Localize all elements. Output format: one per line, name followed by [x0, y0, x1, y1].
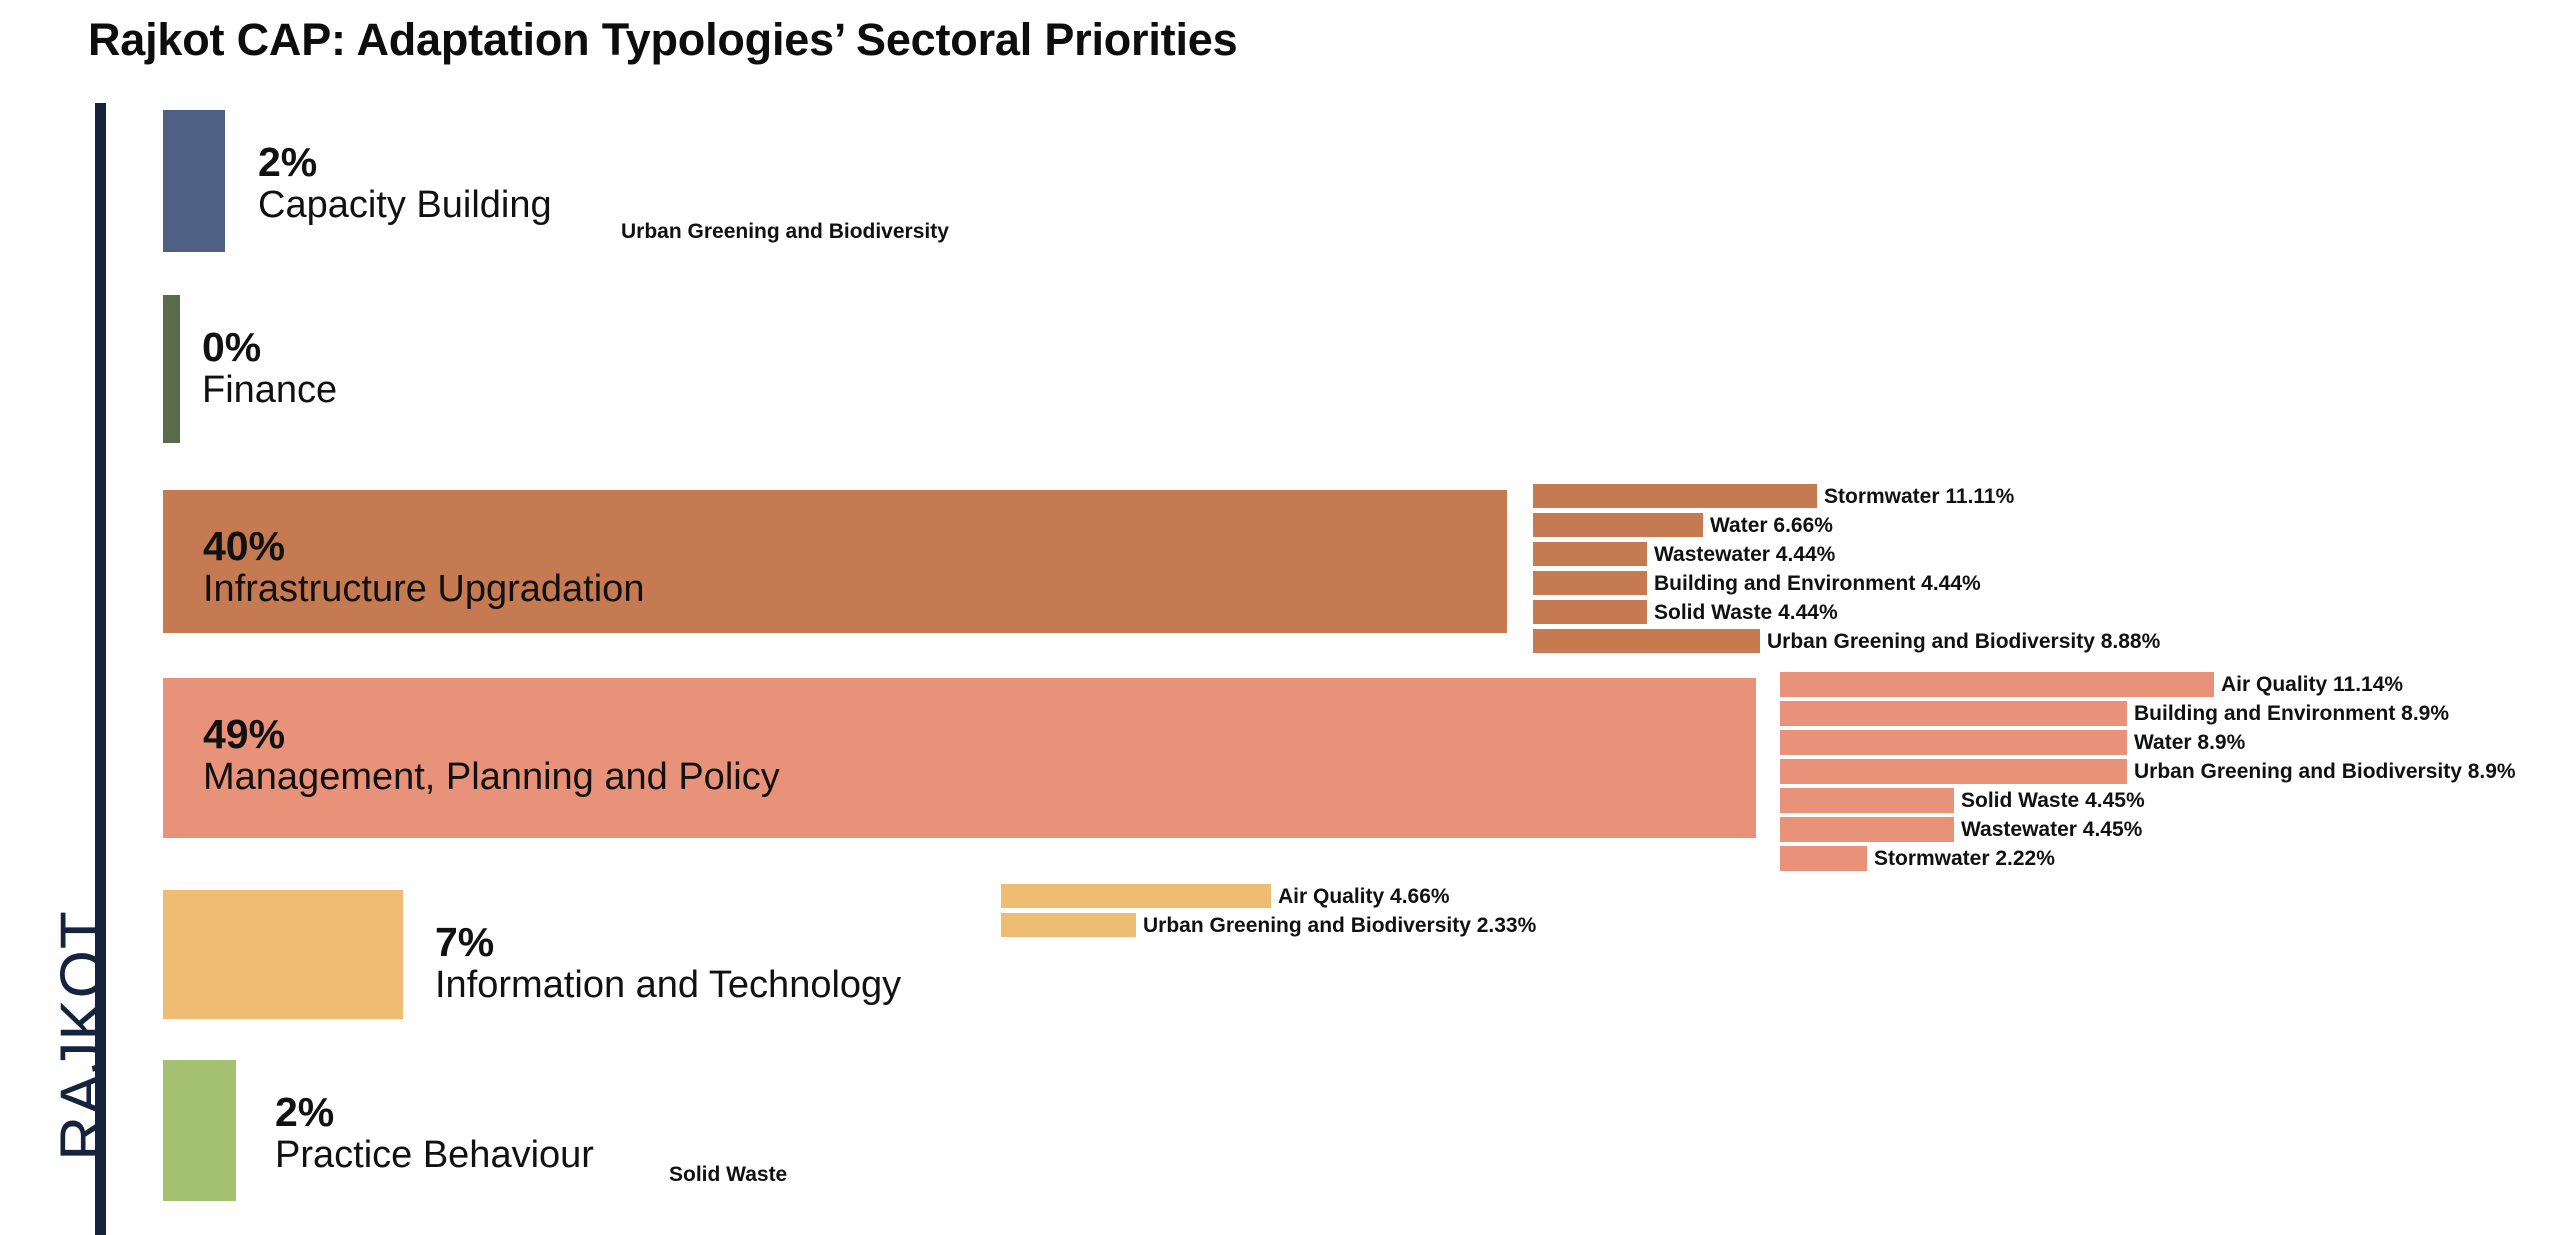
main-bar-information-and-technology[interactable] — [163, 890, 403, 1019]
sector-row: Wastewater 4.44% — [1533, 542, 1835, 566]
city-label: RAJKOT — [48, 871, 119, 1201]
main-percent-finance: 0% — [202, 327, 337, 369]
main-label-information-and-technology: 7%Information and Technology — [435, 922, 901, 1005]
sector-label: Building and Environment 4.44% — [1654, 573, 1981, 594]
sector-bar[interactable] — [1780, 701, 2127, 726]
sector-row: Building and Environment 4.44% — [1533, 571, 1981, 595]
sector-bar[interactable] — [1001, 884, 1271, 908]
typology-group-finance: 0%Finance — [163, 295, 180, 443]
main-name-information-and-technology: Information and Technology — [435, 966, 901, 1005]
sector-bar[interactable] — [1533, 629, 1760, 653]
sector-bar[interactable] — [1780, 730, 2127, 755]
sector-label: Urban Greening and Biodiversity 8.88% — [1767, 631, 2160, 652]
sector-label: Stormwater 2.22% — [1874, 848, 2055, 869]
chart-canvas: Rajkot CAP: Adaptation Typologies’ Secto… — [0, 0, 2551, 1235]
sector-row: Water 6.66% — [1533, 513, 1833, 537]
sector-label: Solid Waste 4.45% — [1961, 790, 2145, 811]
typology-group-capacity-building: 2%Capacity Building — [163, 110, 225, 252]
typology-group-management-planning-and-policy: 49%Management, Planning and Policy — [163, 678, 1756, 838]
sector-label: Wastewater 4.45% — [1961, 819, 2142, 840]
main-bar-capacity-building[interactable] — [163, 110, 225, 252]
sector-bar[interactable] — [1780, 759, 2127, 784]
sector-row: Urban Greening and Biodiversity 2.33% — [1001, 913, 1536, 937]
typology-group-infrastructure-upgradation: 40%Infrastructure Upgradation — [163, 490, 1507, 633]
sector-label: Water 8.9% — [2134, 732, 2245, 753]
sector-label: Urban Greening and Biodiversity 2.33% — [1143, 915, 1536, 936]
sector-row: Water 8.9% — [1780, 730, 2245, 755]
main-label-management-planning-and-policy: 49%Management, Planning and Policy — [203, 714, 780, 797]
main-label-finance: 0%Finance — [202, 327, 337, 410]
sector-bar[interactable] — [1780, 788, 1954, 813]
main-percent-capacity-building: 2% — [258, 142, 552, 184]
sector-bar[interactable] — [1780, 817, 1954, 842]
sector-row: Stormwater 11.11% — [1533, 484, 2014, 508]
sector-bar[interactable] — [1533, 513, 1703, 537]
main-name-management-planning-and-policy: Management, Planning and Policy — [203, 758, 780, 797]
sector-row: Air Quality 4.66% — [1001, 884, 1450, 908]
sector-label: Solid Waste 4.44% — [1654, 602, 1838, 623]
sector-annotation-practice-behaviour: Solid Waste — [669, 1163, 787, 1187]
main-percent-practice-behaviour: 2% — [275, 1092, 594, 1134]
page-title: Rajkot CAP: Adaptation Typologies’ Secto… — [88, 14, 1237, 66]
typology-group-information-and-technology: 7%Information and Technology — [163, 890, 403, 1019]
main-label-infrastructure-upgradation: 40%Infrastructure Upgradation — [203, 526, 644, 609]
main-name-practice-behaviour: Practice Behaviour — [275, 1136, 594, 1175]
sector-bar[interactable] — [1533, 484, 1817, 508]
sector-annotation-capacity-building: Urban Greening and Biodiversity — [621, 220, 949, 244]
sector-row: Air Quality 11.14% — [1780, 672, 2403, 697]
typology-group-practice-behaviour: 2%Practice Behaviour — [163, 1060, 236, 1201]
sector-bar[interactable] — [1780, 846, 1867, 871]
sector-row: Urban Greening and Biodiversity 8.9% — [1780, 759, 2516, 784]
sector-bar[interactable] — [1533, 542, 1647, 566]
sector-row: Solid Waste 4.44% — [1533, 600, 1838, 624]
sector-bar[interactable] — [1533, 571, 1647, 595]
sector-label: Wastewater 4.44% — [1654, 544, 1835, 565]
sector-label: Stormwater 11.11% — [1824, 486, 2014, 507]
sector-bar[interactable] — [1780, 672, 2214, 697]
sector-row: Stormwater 2.22% — [1780, 846, 2055, 871]
sector-row: Urban Greening and Biodiversity 8.88% — [1533, 629, 2160, 653]
main-percent-information-and-technology: 7% — [435, 922, 901, 964]
main-bar-finance[interactable] — [163, 295, 180, 443]
main-bar-practice-behaviour[interactable] — [163, 1060, 236, 1201]
main-label-capacity-building: 2%Capacity Building — [258, 142, 552, 225]
main-percent-management-planning-and-policy: 49% — [203, 714, 780, 756]
sector-label: Building and Environment 8.9% — [2134, 703, 2449, 724]
sector-label: Urban Greening and Biodiversity 8.9% — [2134, 761, 2516, 782]
main-name-infrastructure-upgradation: Infrastructure Upgradation — [203, 570, 644, 609]
sector-row: Solid Waste 4.45% — [1780, 788, 2145, 813]
main-percent-infrastructure-upgradation: 40% — [203, 526, 644, 568]
sector-label: Air Quality 4.66% — [1278, 886, 1450, 907]
sector-bar[interactable] — [1001, 913, 1136, 937]
main-label-practice-behaviour: 2%Practice Behaviour — [275, 1092, 594, 1175]
main-name-finance: Finance — [202, 371, 337, 410]
sector-row: Wastewater 4.45% — [1780, 817, 2142, 842]
sector-label: Air Quality 11.14% — [2221, 674, 2403, 695]
main-name-capacity-building: Capacity Building — [258, 186, 552, 225]
sector-row: Building and Environment 8.9% — [1780, 701, 2449, 726]
sector-bar[interactable] — [1533, 600, 1647, 624]
sector-label: Water 6.66% — [1710, 515, 1833, 536]
